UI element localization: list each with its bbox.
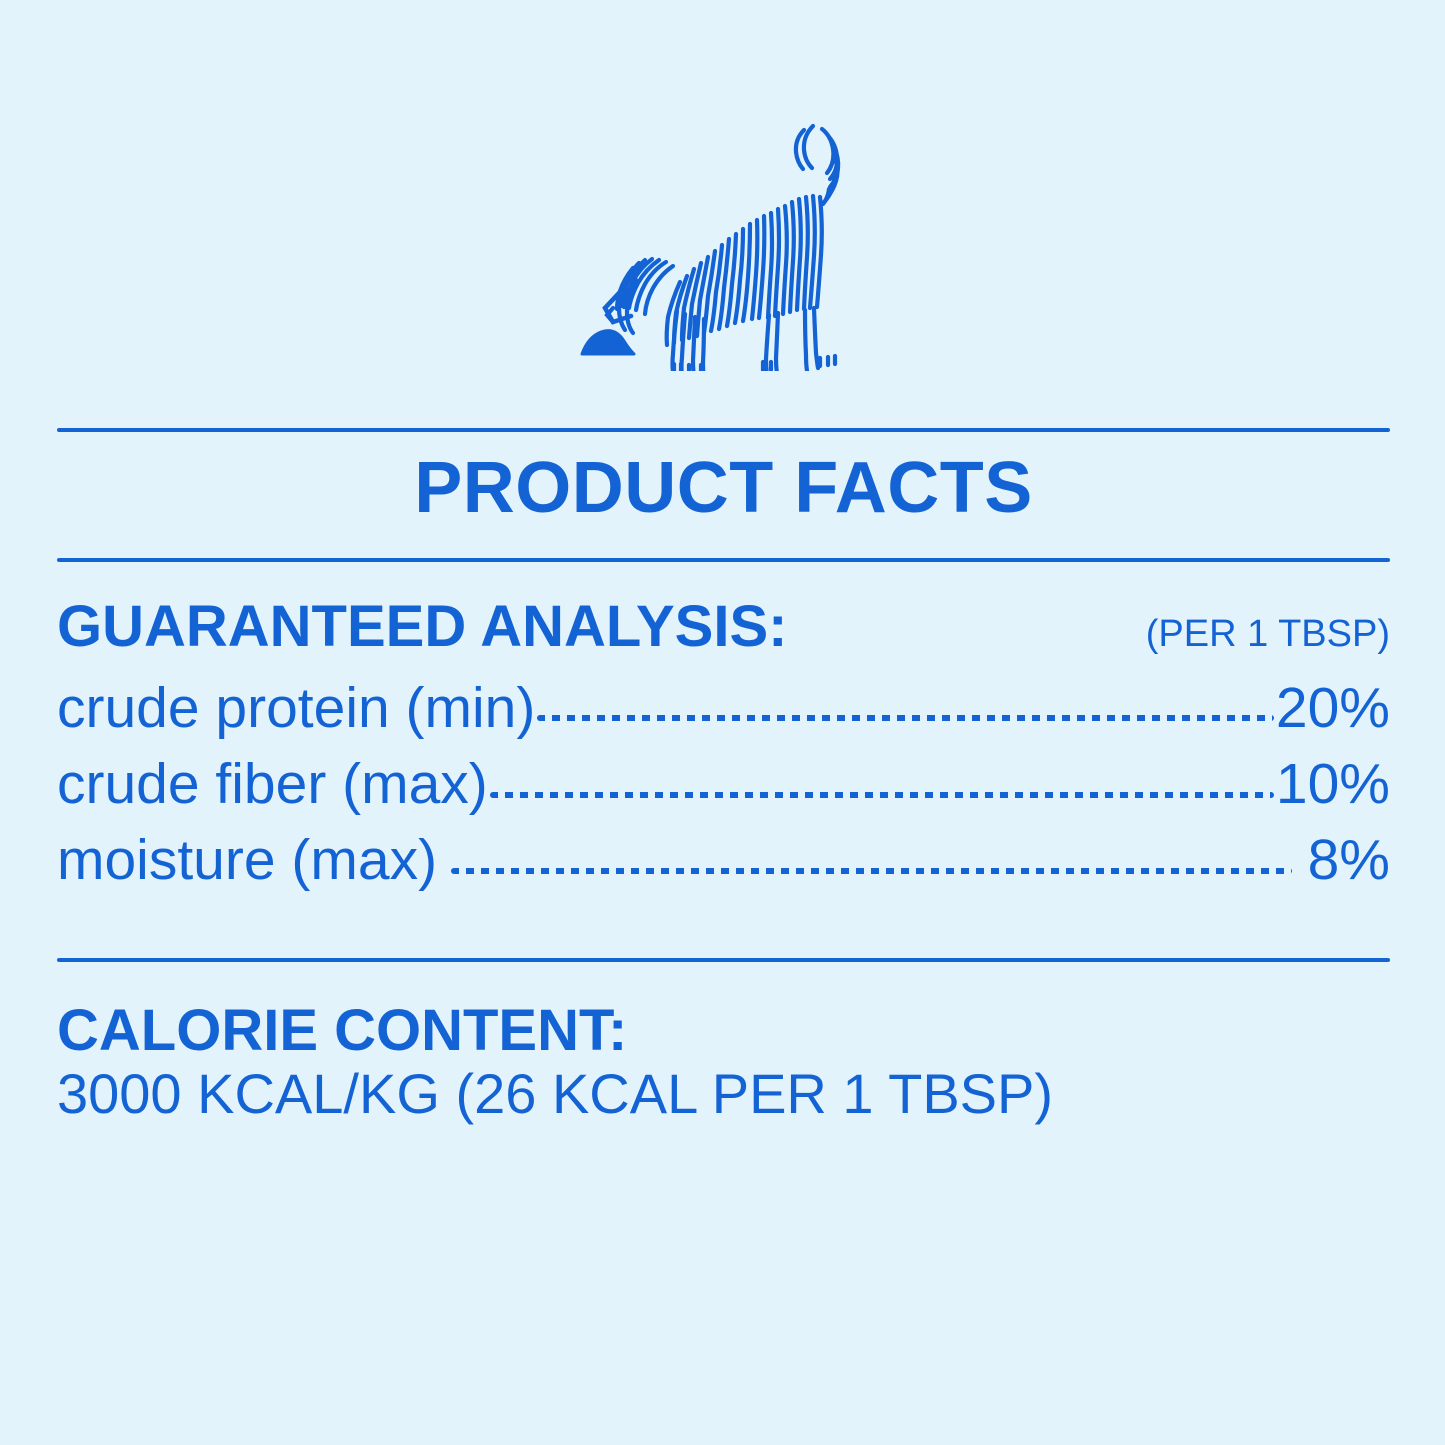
divider-bottom — [57, 958, 1390, 962]
analysis-row-value: 8% — [1294, 823, 1390, 898]
calorie-content-heading: CALORIE CONTENT: — [57, 1000, 1390, 1063]
analysis-row-label: crude fiber (max) — [57, 747, 488, 822]
analysis-row-label: crude protein (min) — [57, 671, 535, 746]
guaranteed-analysis-heading: GUARANTEED ANALYSIS: — [57, 598, 787, 656]
guaranteed-analysis-header: GUARANTEED ANALYSIS: (PER 1 TBSP) — [57, 598, 1390, 656]
shaggy-dog-sniffing-food-icon — [0, 96, 1445, 386]
analysis-row-value: 10% — [1276, 747, 1390, 822]
divider-top — [57, 428, 1390, 432]
dot-leader — [537, 670, 1274, 727]
analysis-row-value: 20% — [1276, 671, 1390, 746]
analysis-row-label: moisture (max) — [57, 823, 437, 898]
analysis-row: crude protein (min) 20% — [57, 670, 1390, 746]
calorie-content-section: CALORIE CONTENT: 3000 KCAL/KG (26 KCAL P… — [57, 1000, 1390, 1125]
product-facts-label: PRODUCT FACTS GUARANTEED ANALYSIS: (PER … — [0, 0, 1445, 1445]
calorie-content-value: 3000 KCAL/KG (26 KCAL PER 1 TBSP) — [57, 1063, 1390, 1126]
guaranteed-analysis-section: GUARANTEED ANALYSIS: (PER 1 TBSP) crude … — [57, 598, 1390, 899]
analysis-row: crude fiber (max) 10% — [57, 746, 1390, 822]
dot-leader — [451, 822, 1292, 879]
analysis-row: moisture (max) 8% — [57, 822, 1390, 898]
page-title: PRODUCT FACTS — [57, 452, 1390, 524]
divider-middle — [57, 558, 1390, 562]
dot-leader — [490, 746, 1274, 803]
serving-size-note: (PER 1 TBSP) — [1146, 615, 1390, 653]
